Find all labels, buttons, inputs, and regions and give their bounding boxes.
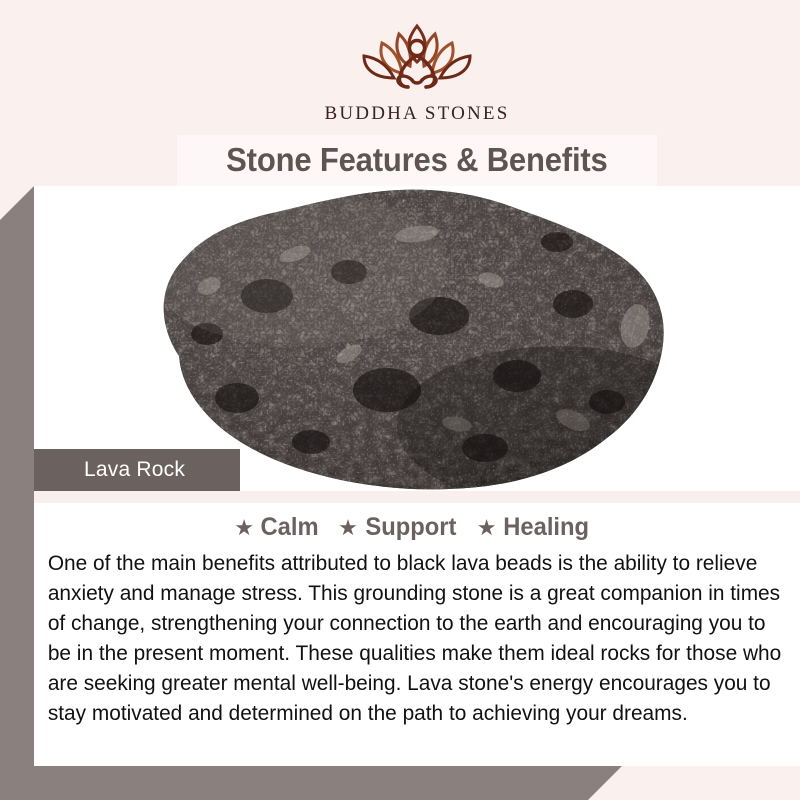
section-divider — [34, 491, 800, 503]
attribute-item: ★ Calm — [234, 513, 320, 542]
brand-name: BUDDHA STONES — [324, 103, 509, 125]
description-text: One of the main benefits attributed to b… — [42, 548, 783, 728]
brand-header: BUDDHA STONES Stone Features & Benefits — [34, 0, 800, 186]
stone-label-banner: Lava Rock — [34, 449, 240, 491]
infographic-card: BUDDHA STONES Stone Features & Benefits — [0, 0, 800, 800]
content-area: ★ Calm ★ Support ★ Healing One of the ma… — [34, 503, 800, 766]
attribute-list: ★ Calm ★ Support ★ Healing — [42, 513, 784, 542]
page-title: Stone Features & Benefits — [226, 141, 607, 179]
star-icon: ★ — [234, 517, 254, 539]
star-icon: ★ — [338, 517, 358, 539]
star-icon: ★ — [477, 517, 497, 539]
stone-label-text: Lava Rock — [84, 458, 185, 482]
card-inner: BUDDHA STONES Stone Features & Benefits — [34, 0, 800, 766]
stone-photo: Lava Rock — [34, 186, 800, 491]
lotus-meditation-icon — [342, 18, 492, 101]
page-title-box: Stone Features & Benefits — [177, 135, 657, 188]
frame-band-bottom — [0, 766, 622, 800]
attribute-label: Support — [365, 513, 456, 542]
lava-rock-photo — [87, 186, 747, 491]
frame-band-left — [0, 186, 34, 800]
attribute-item: ★ Healing — [477, 513, 592, 542]
attribute-item: ★ Support — [338, 513, 459, 542]
attribute-label: Calm — [261, 513, 319, 542]
attribute-label: Healing — [504, 513, 590, 542]
